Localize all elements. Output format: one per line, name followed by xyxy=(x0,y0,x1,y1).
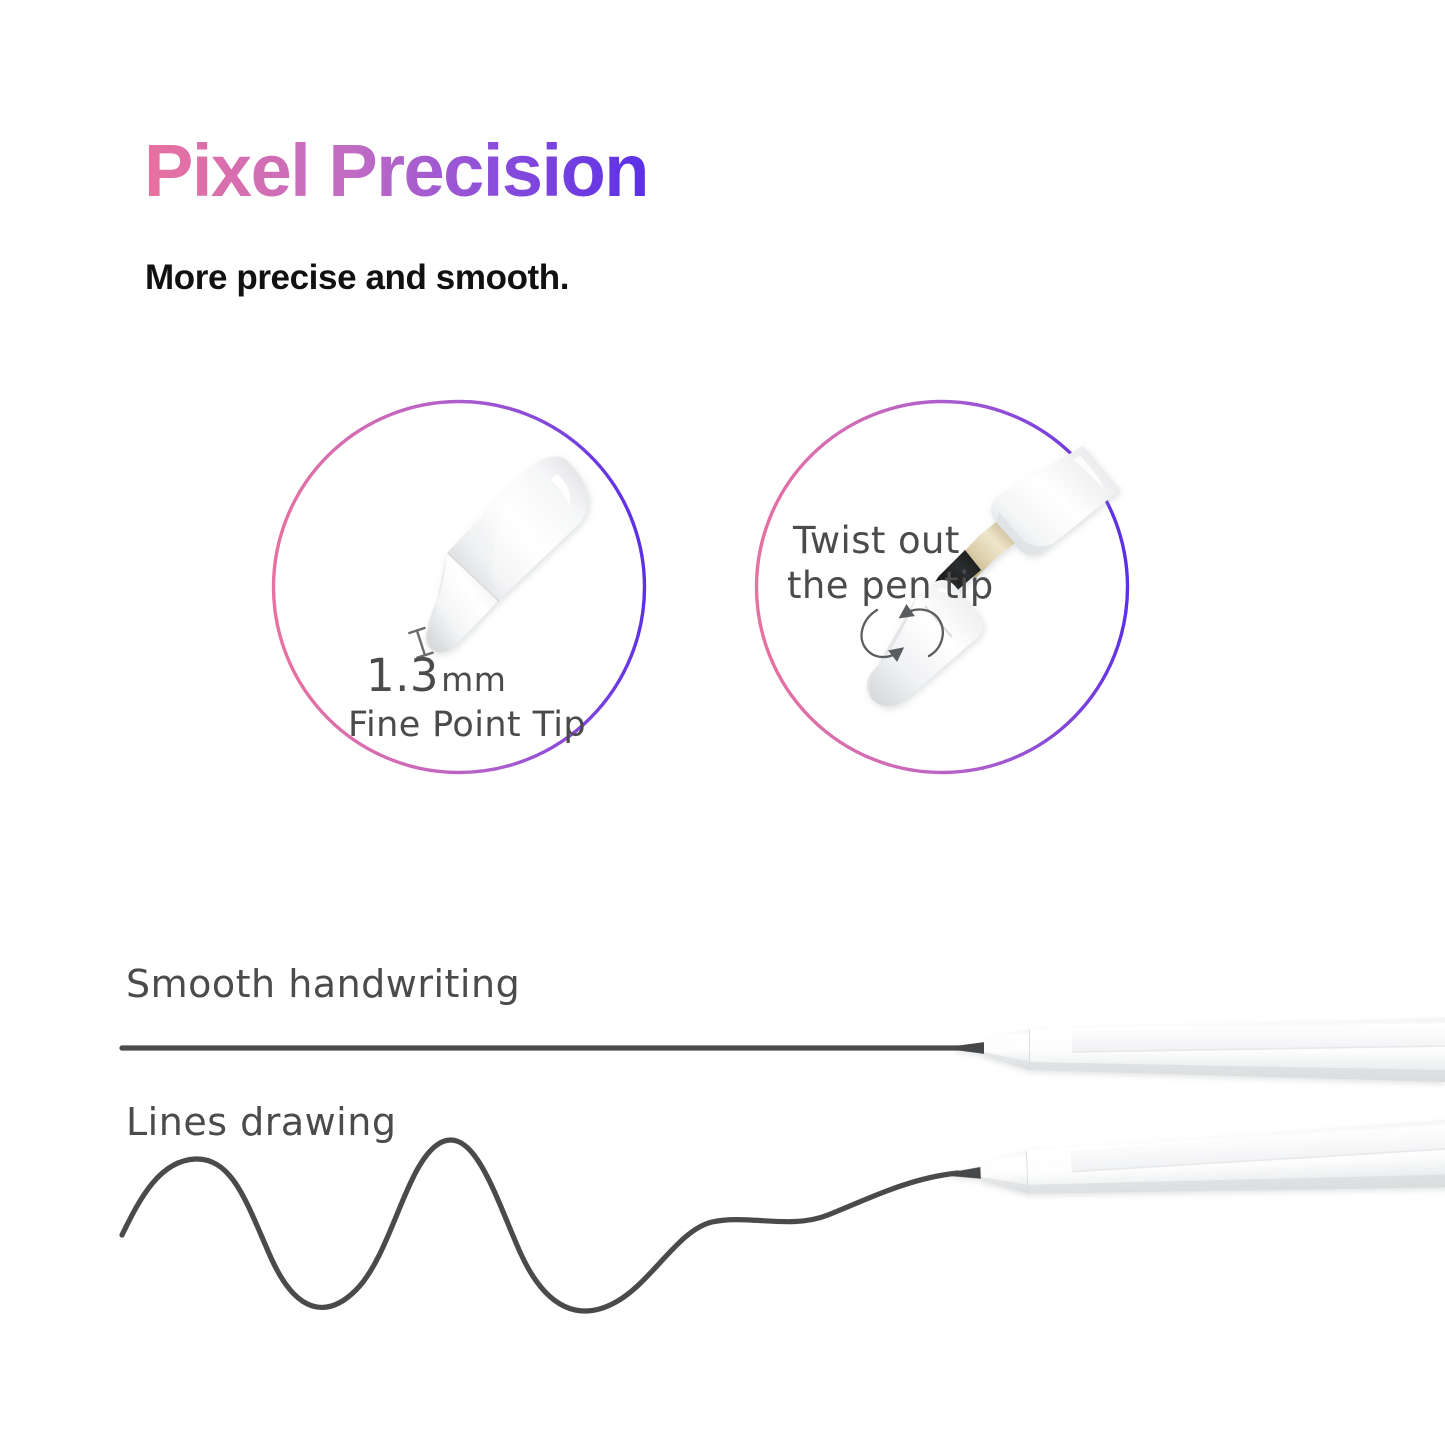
measure-unit: mm xyxy=(441,660,506,699)
page-subtitle: More precise and smooth. xyxy=(145,258,569,298)
measure-value: 1.3mm xyxy=(366,649,506,702)
feature-circle-row: 1.3mm Fine Point Tip xyxy=(0,398,1445,788)
feature-caption-line2: the pen tip xyxy=(787,564,994,607)
feature-twist-out-pen-tip: Twist out the pen tip xyxy=(753,398,1131,776)
page-title: Pixel Precision xyxy=(144,132,648,210)
feature-caption: Fine Point Tip xyxy=(348,705,586,745)
stylus-pencil-bottom xyxy=(950,1119,1445,1210)
stroke-wave-line xyxy=(122,1140,958,1311)
stroke-demo-section: Smooth handwriting Lines drawing xyxy=(0,930,1445,1350)
measure-number: 1.3 xyxy=(366,649,439,702)
stylus-pencil-top xyxy=(955,1018,1445,1082)
marketing-page: Pixel Precision More precise and smooth. xyxy=(0,0,1445,1445)
stylus-tip-closeup-icon xyxy=(426,457,589,653)
feature-fine-point-tip: 1.3mm Fine Point Tip xyxy=(270,398,648,776)
feature-caption-line1: Twist out xyxy=(792,519,960,562)
